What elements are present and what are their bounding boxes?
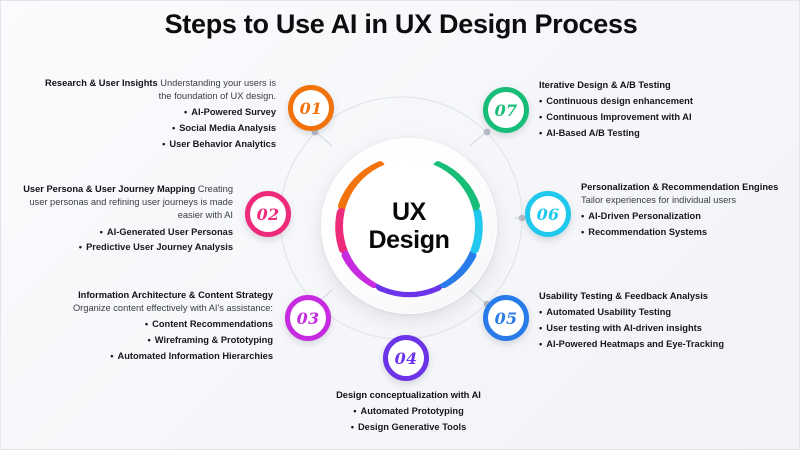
step-text-07: Iterative Design & A/B Testing Continuou… bbox=[539, 79, 784, 140]
step-text-03: Information Architecture & Content Strat… bbox=[47, 289, 273, 363]
step-lead-01: Research & User Insights Understanding y… bbox=[41, 77, 276, 103]
step-lead-06: Personalization & Recommendation Engines… bbox=[581, 181, 791, 207]
step-badge-05[interactable]: 05 bbox=[483, 295, 529, 341]
list-item: AI-Powered Survey bbox=[41, 106, 276, 119]
step-badge-01[interactable]: 01 bbox=[288, 85, 334, 131]
list-item: User Behavior Analytics bbox=[41, 138, 276, 151]
step-text-04: Design conceptualization with AI Automat… bbox=[301, 389, 516, 434]
list-item: Predictive User Journey Analysis bbox=[13, 241, 233, 254]
list-item: Design Generative Tools bbox=[301, 421, 516, 434]
step-badge-04[interactable]: 04 bbox=[383, 335, 429, 381]
center-label-line2: Design bbox=[369, 226, 450, 254]
step-number-01: 01 bbox=[300, 99, 323, 118]
list-item: Wireframing & Prototyping bbox=[47, 334, 273, 347]
center-hub: UX Design bbox=[321, 138, 497, 314]
list-item: Content Recommendations bbox=[47, 318, 273, 331]
center-label: UX Design bbox=[369, 198, 450, 254]
step-lead-05: Usability Testing & Feedback Analysis bbox=[539, 290, 789, 303]
list-item: Automated Information Hierarchies bbox=[47, 350, 273, 363]
step-heading-06: Personalization & Recommendation Engines bbox=[581, 182, 778, 192]
step-badge-06[interactable]: 06 bbox=[525, 191, 571, 237]
step-lead-02: User Persona & User Journey Mapping Crea… bbox=[13, 183, 233, 223]
page-title: Steps to Use AI in UX Design Process bbox=[1, 9, 800, 40]
step-lead-04: Design conceptualization with AI bbox=[301, 389, 516, 402]
step-bullets-01: AI-Powered Survey Social Media Analysis … bbox=[41, 106, 276, 151]
step-number-07: 07 bbox=[495, 101, 518, 120]
step-description-01: Understanding your users is the foundati… bbox=[158, 78, 276, 101]
step-description-03: Organize content effectively with AI's a… bbox=[73, 303, 273, 313]
center-label-line1: UX bbox=[369, 198, 450, 226]
step-number-04: 04 bbox=[395, 349, 418, 368]
list-item: Continuous Improvement with AI bbox=[539, 111, 784, 124]
step-number-06: 06 bbox=[537, 205, 560, 224]
step-number-02: 02 bbox=[257, 205, 280, 224]
list-item: Recommendation Systems bbox=[581, 226, 791, 239]
step-bullets-03: Content Recommendations Wireframing & Pr… bbox=[47, 318, 273, 363]
list-item: Social Media Analysis bbox=[41, 122, 276, 135]
list-item: Automated Prototyping bbox=[301, 405, 516, 418]
donut-segment-6 bbox=[475, 213, 479, 249]
step-text-05: Usability Testing & Feedback Analysis Au… bbox=[539, 290, 789, 351]
step-badge-02[interactable]: 02 bbox=[245, 191, 291, 237]
step-text-06: Personalization & Recommendation Engines… bbox=[581, 181, 791, 239]
list-item: AI-Based A/B Testing bbox=[539, 127, 784, 140]
step-bullets-06: AI-Driven Personalization Recommendation… bbox=[581, 210, 791, 239]
step-heading-05: Usability Testing & Feedback Analysis bbox=[539, 291, 708, 301]
step-bullets-05: Automated Usability Testing User testing… bbox=[539, 306, 789, 351]
list-item: Automated Usability Testing bbox=[539, 306, 789, 319]
list-item: AI-Driven Personalization bbox=[581, 210, 791, 223]
step-lead-07: Iterative Design & A/B Testing bbox=[539, 79, 784, 92]
step-heading-03: Information Architecture & Content Strat… bbox=[78, 290, 273, 300]
step-number-05: 05 bbox=[495, 309, 518, 328]
infographic-canvas: Steps to Use AI in UX Design Process bbox=[0, 0, 800, 450]
step-bullets-02: AI-Generated User Personas Predictive Us… bbox=[13, 226, 233, 255]
step-heading-01: Research & User Insights bbox=[45, 78, 158, 88]
step-bullets-04: Automated Prototyping Design Generative … bbox=[301, 405, 516, 434]
hub-center: UX Design bbox=[343, 160, 475, 292]
step-bullets-07: Continuous design enhancement Continuous… bbox=[539, 95, 784, 140]
list-item: AI-Generated User Personas bbox=[13, 226, 233, 239]
list-item: Continuous design enhancement bbox=[539, 95, 784, 108]
step-heading-02: User Persona & User Journey Mapping bbox=[23, 184, 195, 194]
step-heading-07: Iterative Design & A/B Testing bbox=[539, 80, 671, 90]
step-number-03: 03 bbox=[297, 309, 320, 328]
list-item: User testing with AI-driven insights bbox=[539, 322, 789, 335]
step-lead-03: Information Architecture & Content Strat… bbox=[47, 289, 273, 315]
step-heading-04: Design conceptualization with AI bbox=[336, 390, 481, 400]
list-item: AI-Powered Heatmaps and Eye-Tracking bbox=[539, 338, 789, 351]
step-text-02: User Persona & User Journey Mapping Crea… bbox=[13, 183, 233, 254]
step-text-01: Research & User Insights Understanding y… bbox=[41, 77, 276, 151]
step-badge-07[interactable]: 07 bbox=[483, 87, 529, 133]
step-badge-03[interactable]: 03 bbox=[285, 295, 331, 341]
step-description-06: Tailor experiences for individual users bbox=[581, 195, 736, 205]
